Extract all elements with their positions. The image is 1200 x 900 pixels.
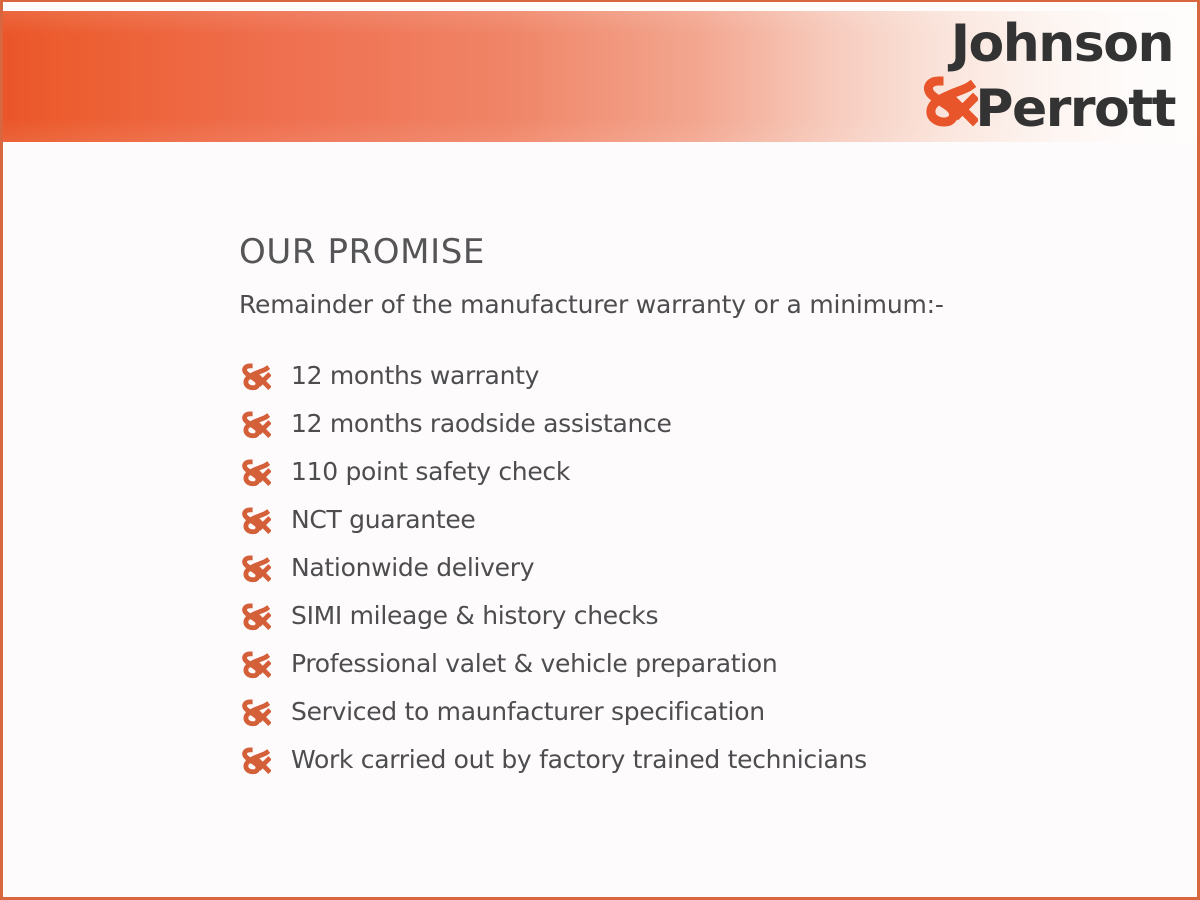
list-item: SIMI mileage & history checks	[239, 592, 1159, 640]
logo-line-johnson: Johnson	[875, 16, 1173, 72]
page-title: OUR PROMISE	[239, 230, 1159, 274]
ampersand-bullet-icon	[239, 360, 271, 392]
ampersand-bullet-icon	[239, 648, 271, 680]
ampersand-bullet-icon	[239, 600, 271, 632]
list-item-label: SIMI mileage & history checks	[291, 601, 658, 631]
promise-content: OUR PROMISE Remainder of the manufacture…	[239, 230, 1159, 784]
ampersand-bullet-icon	[239, 504, 271, 536]
logo-line-perrott-row: Perrott	[875, 72, 1175, 138]
list-item: Serviced to maunfacturer specification	[239, 688, 1159, 736]
list-item-label: Work carried out by factory trained tech…	[291, 745, 867, 775]
ampersand-bullet-icon	[239, 744, 271, 776]
list-item-label: NCT guarantee	[291, 505, 476, 535]
list-item: Nationwide delivery	[239, 544, 1159, 592]
promise-page: Johnson Perrott OUR PROMISE Remainder of…	[0, 0, 1200, 900]
logo-line-perrott: Perrott	[975, 79, 1175, 139]
ampersand-bullet-icon	[239, 552, 271, 584]
list-item-label: Professional valet & vehicle preparation	[291, 649, 777, 679]
promise-list: 12 months warranty 12 months raodside as…	[239, 352, 1159, 784]
top-white-strip	[3, 2, 1200, 11]
list-item-label: 12 months warranty	[291, 361, 539, 391]
list-item-label: Nationwide delivery	[291, 553, 534, 583]
list-item: NCT guarantee	[239, 496, 1159, 544]
list-item: 12 months warranty	[239, 352, 1159, 400]
ampersand-bullet-icon	[239, 408, 271, 440]
list-item-label: Serviced to maunfacturer specification	[291, 697, 765, 727]
page-subtitle: Remainder of the manufacturer warranty o…	[239, 288, 1159, 322]
list-item: Professional valet & vehicle preparation	[239, 640, 1159, 688]
ampersand-bullet-icon	[239, 456, 271, 488]
brand-logo[interactable]: Johnson Perrott	[875, 16, 1175, 132]
list-item-label: 12 months raodside assistance	[291, 409, 672, 439]
list-item: Work carried out by factory trained tech…	[239, 736, 1159, 784]
list-item: 110 point safety check	[239, 448, 1159, 496]
list-item: 12 months raodside assistance	[239, 400, 1159, 448]
ampersand-bullet-icon	[239, 696, 271, 728]
ampersand-knot-icon	[918, 72, 978, 128]
list-item-label: 110 point safety check	[291, 457, 570, 487]
